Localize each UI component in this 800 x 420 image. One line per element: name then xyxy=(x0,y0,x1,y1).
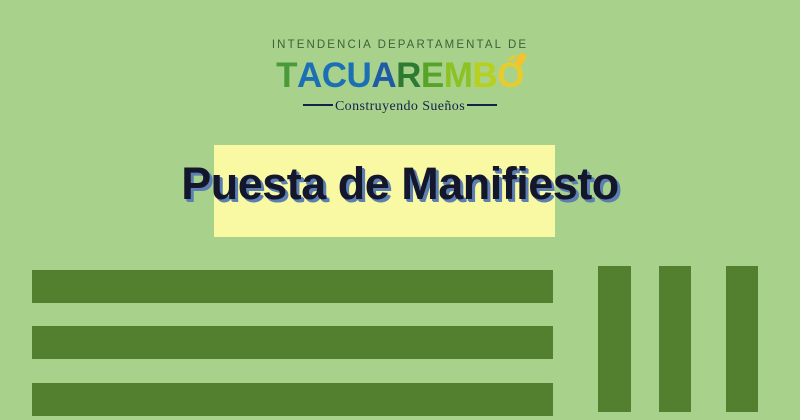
tagline-rule-left xyxy=(303,104,333,106)
logo-letter: A xyxy=(297,58,322,93)
logo-letter: R xyxy=(396,58,421,93)
logo-letter: M xyxy=(444,58,473,93)
horizontal-bar-1 xyxy=(32,270,553,303)
horizontal-bar-3 xyxy=(32,383,553,416)
tagline-text: Construyendo Sueños xyxy=(335,99,465,114)
flame-icon xyxy=(514,51,527,66)
logo-wordmark: TACUAREMBÓ xyxy=(0,58,800,93)
logo-letter: B xyxy=(472,58,497,93)
banner-graphic: INTENDENCIA DEPARTAMENTAL DE TACUAREMBÓ … xyxy=(0,0,800,420)
logo-letter: T xyxy=(276,58,297,93)
logo-tagline: Construyendo Sueños xyxy=(0,100,800,114)
logo-top-line: INTENDENCIA DEPARTAMENTAL DE xyxy=(0,40,800,52)
logo-letter: A xyxy=(371,58,396,93)
logo-letter-o-accent: Ó xyxy=(497,58,524,93)
page-title: Puesta de Manifiesto xyxy=(0,158,800,210)
tacuarembo-logo: INTENDENCIA DEPARTAMENTAL DE TACUAREMBÓ … xyxy=(0,40,800,114)
logo-letter: E xyxy=(421,58,444,93)
vertical-bar-1 xyxy=(598,266,631,412)
horizontal-bar-2 xyxy=(32,326,553,359)
vertical-bar-2 xyxy=(659,266,691,412)
logo-letter: C xyxy=(322,58,347,93)
vertical-bar-3 xyxy=(726,266,758,412)
logo-letter: U xyxy=(347,58,372,93)
tagline-rule-right xyxy=(467,104,497,106)
